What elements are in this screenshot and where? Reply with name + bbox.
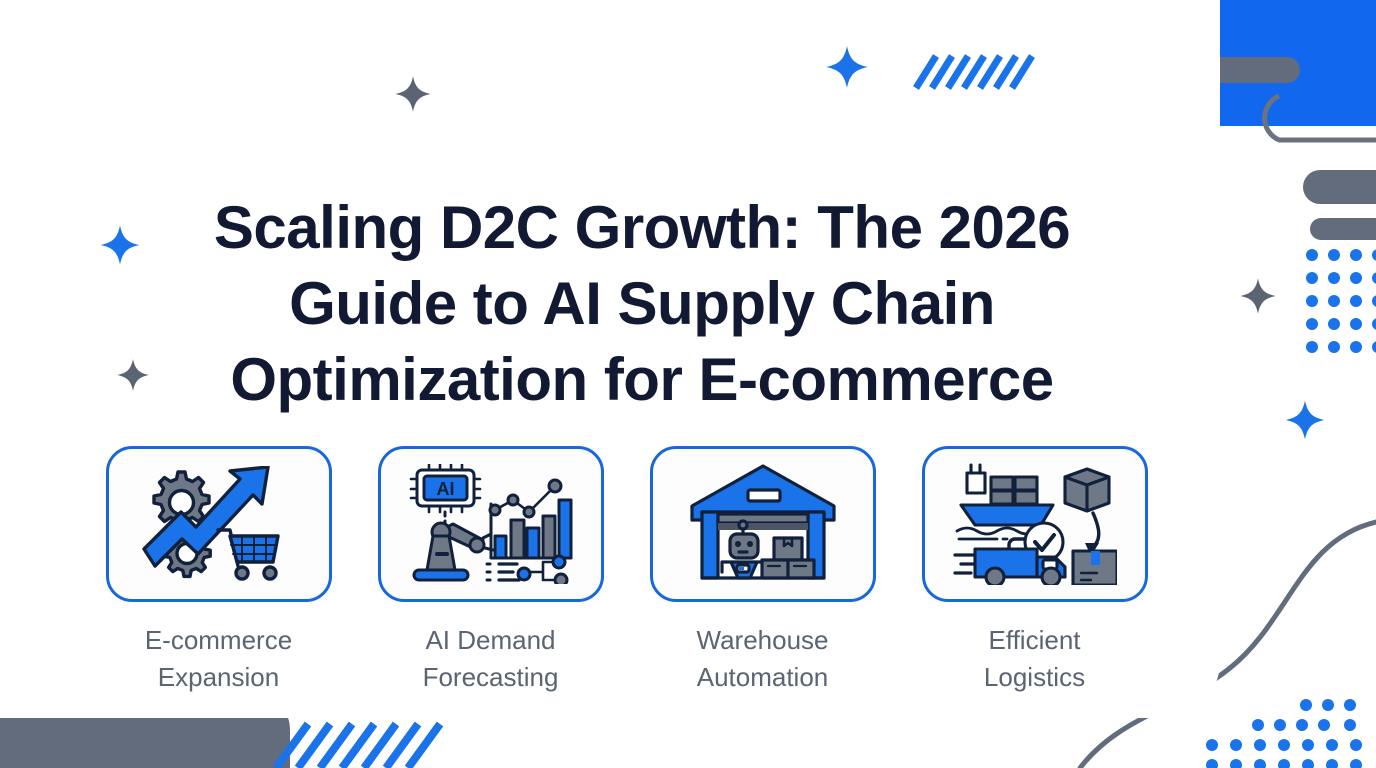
icon-frame-ecommerce-expansion[interactable] [106,446,332,602]
feature-card-ecommerce-expansion[interactable]: E-commerce Expansion [100,446,337,696]
ai-chip-robot-arm-bar-chart-icon: AI [407,464,575,584]
card-label-ai-demand-forecasting: AI Demand Forecasting [423,622,559,696]
gears-growth-arrow-cart-icon [134,466,304,582]
blue-sparkle-right [1286,401,1325,440]
card-label-efficient-logistics: Efficient Logistics [984,622,1085,696]
blue-diagonal-stripes-top [916,56,1032,88]
ship-truck-parcel-check-icon [953,463,1117,585]
gray-sparkle-right [1240,278,1275,313]
gray-sparkle-top-left [395,76,430,111]
feature-card-efficient-logistics[interactable]: Efficient Logistics [916,446,1153,696]
feature-card-warehouse-automation[interactable]: Warehouse Automation [644,446,881,696]
poster-canvas: Scaling D2C Growth: The 2026 Guide to AI… [0,0,1376,768]
icon-frame-warehouse-automation[interactable] [650,446,876,602]
blue-sparkle-top [826,46,868,88]
card-label-ecommerce-expansion: E-commerce Expansion [145,622,292,696]
blue-diagonal-stripes-bottom [276,724,440,768]
icon-frame-ai-demand-forecasting[interactable]: AI [378,446,604,602]
feature-cards-row: E-commerce Expansion [100,446,1290,696]
icon-frame-efficient-logistics[interactable] [922,446,1148,602]
svg-text:AI: AI [436,479,454,499]
feature-card-ai-demand-forecasting[interactable]: AI [372,446,609,696]
page-title: Scaling D2C Growth: The 2026 Guide to AI… [112,190,1172,418]
warehouse-robot-boxes-icon [688,462,838,586]
card-label-warehouse-automation: Warehouse Automation [697,622,829,696]
